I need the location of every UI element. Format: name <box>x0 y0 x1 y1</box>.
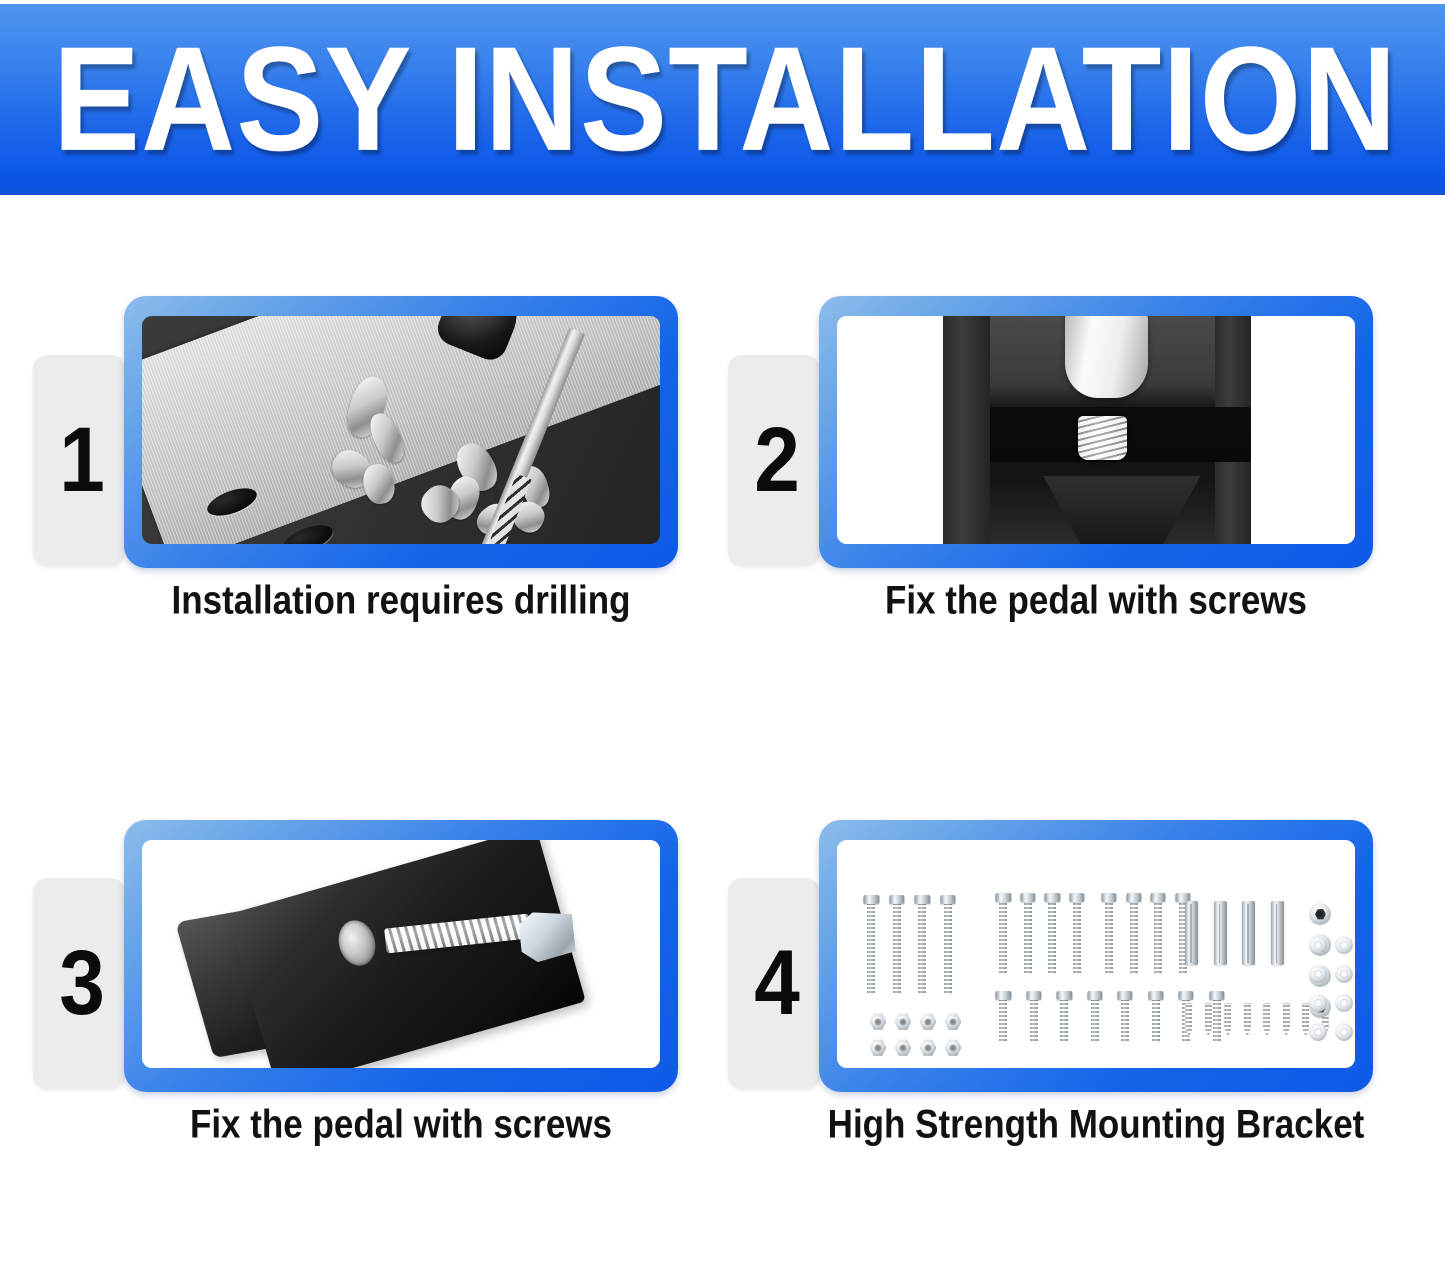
step-image-3 <box>142 840 660 1068</box>
step-image-frame-1 <box>124 296 678 568</box>
step-caption-1: Installation requires drilling <box>124 578 678 623</box>
step-number-3: 3 <box>59 938 105 1030</box>
step-image-frame-3 <box>124 820 678 1092</box>
step-number-4: 4 <box>754 938 800 1030</box>
step-number-badge-1: 1 <box>33 355 125 566</box>
step-number-1: 1 <box>59 415 105 507</box>
hardware-group-washers <box>1305 933 1355 1049</box>
hardware-group-spacer-sleeves <box>1185 901 1283 970</box>
step-number-badge-3: 3 <box>33 878 125 1089</box>
hardware-group-medium-bolts <box>999 901 1186 975</box>
step-image-2 <box>837 316 1355 544</box>
step-image-frame-4 <box>819 820 1373 1092</box>
threaded-stud-icon <box>1065 316 1148 398</box>
page-title: EASY INSTALLATION <box>47 25 1398 173</box>
step-image-frame-2 <box>819 296 1373 568</box>
installation-steps: 1 <box>0 195 1445 1276</box>
step-number-badge-4: 4 <box>728 878 820 1089</box>
pedal-screw-photo <box>837 316 1355 544</box>
step-image-1 <box>142 316 660 544</box>
bracket-bolt-photo <box>142 840 660 1068</box>
step-number-2: 2 <box>754 415 800 507</box>
step-caption-3: Fix the pedal with screws <box>124 1102 678 1147</box>
step-caption-2: Fix the pedal with screws <box>819 578 1373 623</box>
hardware-group-flange-nuts <box>865 1011 969 1063</box>
step-caption-4: High Strength Mounting Bracket <box>819 1102 1373 1147</box>
screw-icon <box>1078 416 1127 459</box>
hardware-group-long-bolts <box>867 903 951 995</box>
step-number-badge-2: 2 <box>728 355 820 566</box>
hardware-kit-photo <box>837 840 1355 1068</box>
drilling-photo <box>142 316 660 544</box>
header-banner: EASY INSTALLATION <box>0 4 1445 195</box>
step-image-4 <box>837 840 1355 1068</box>
